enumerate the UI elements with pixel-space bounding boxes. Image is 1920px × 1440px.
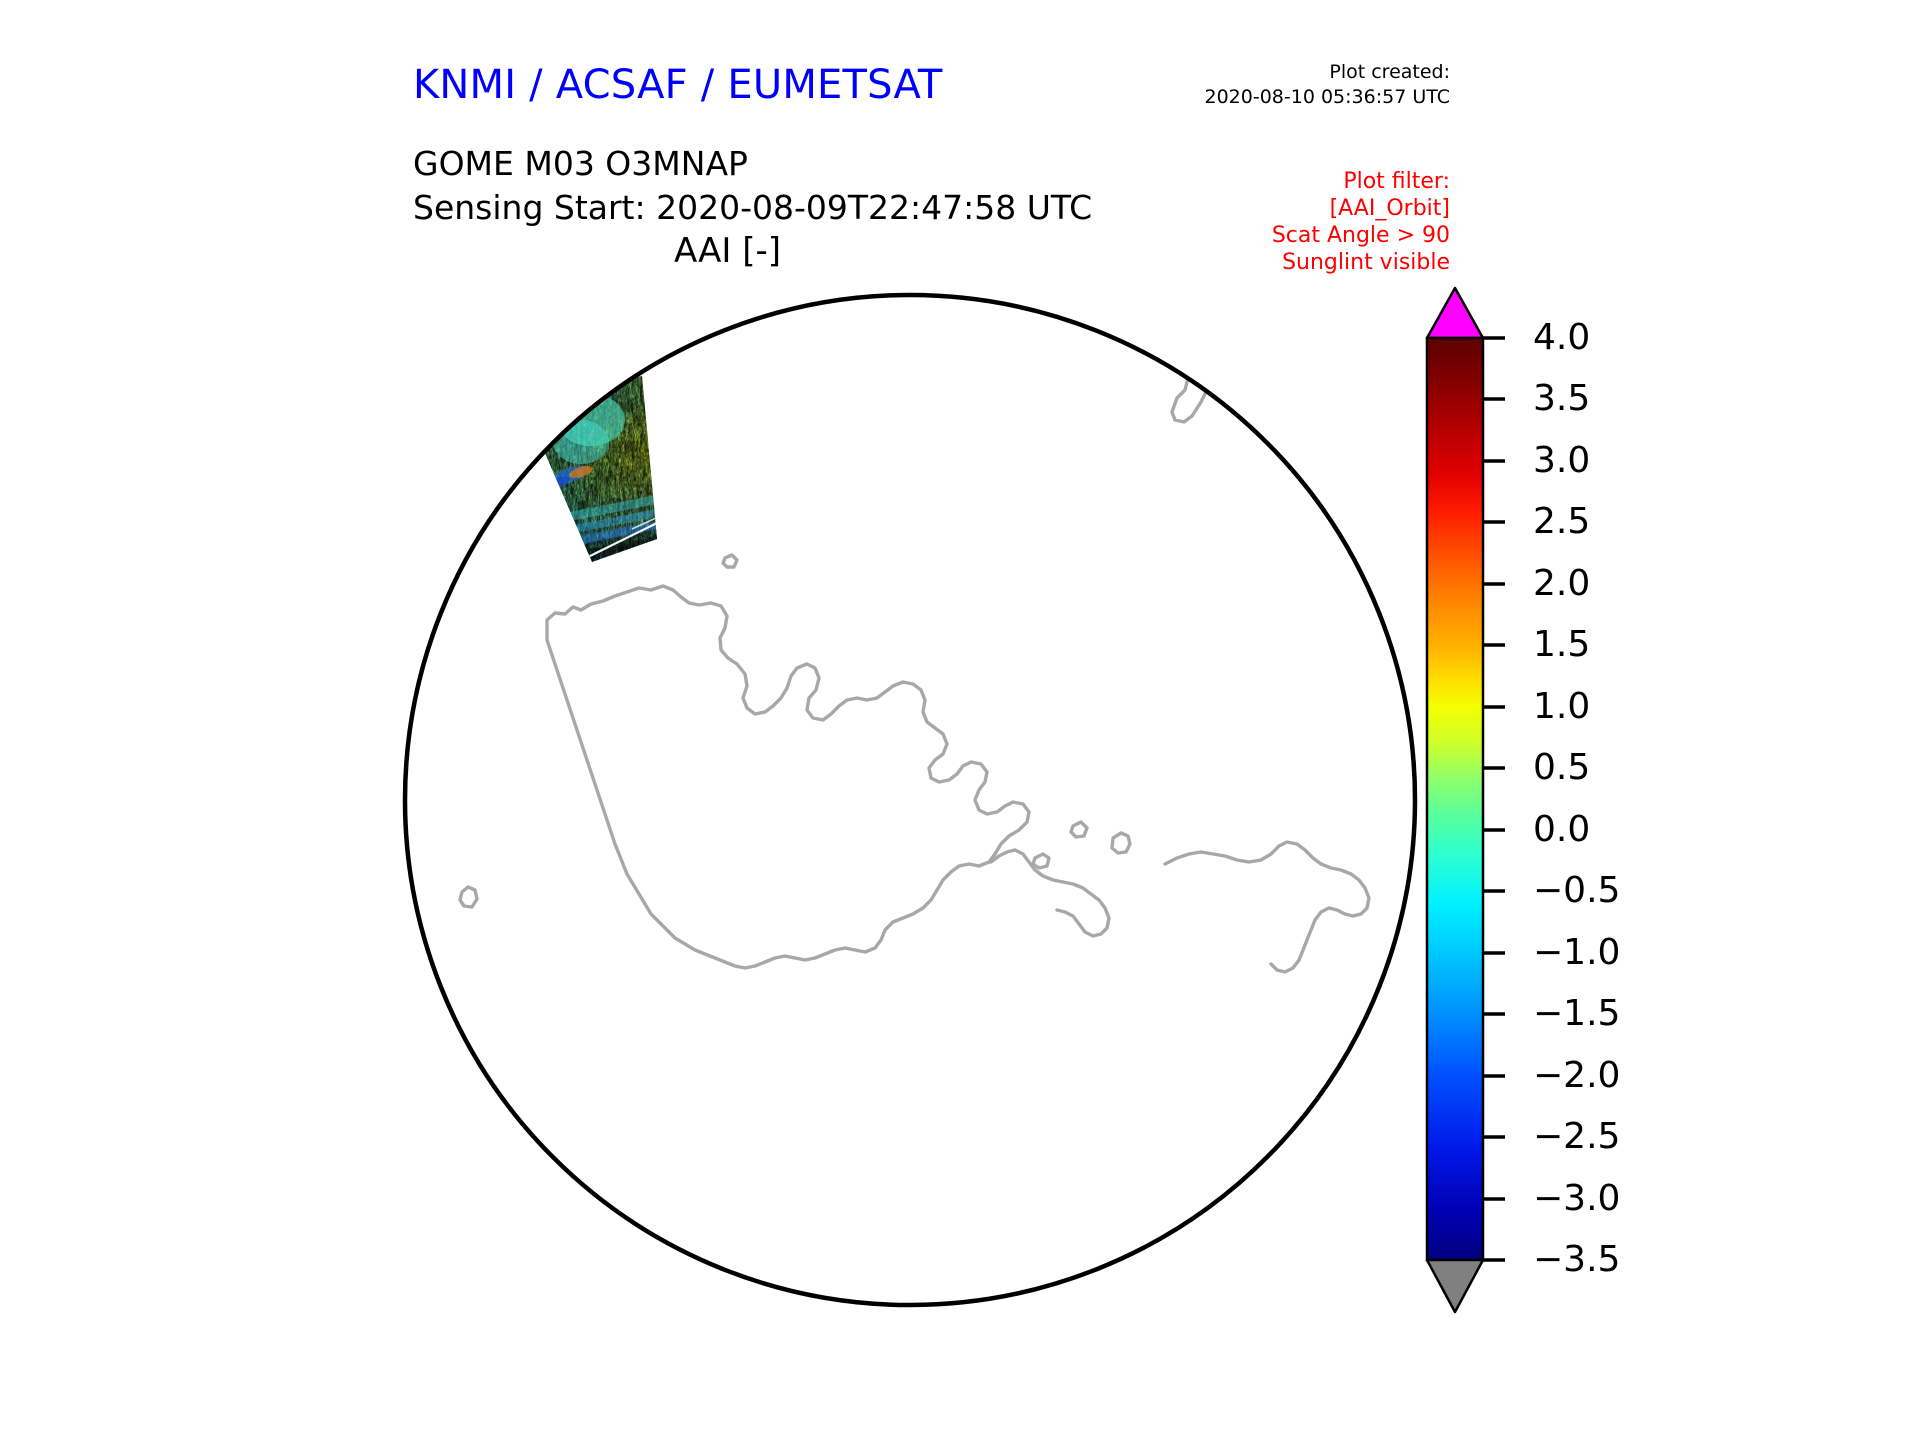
colorbar-tick-label: 1.5 [1533, 627, 1590, 663]
sensing-start-line: Sensing Start: 2020-08-09T22:47:58 UTC [413, 186, 1092, 230]
colorbar-tick-label: 2.0 [1533, 566, 1590, 602]
colorbar-tick-label: −2.0 [1533, 1058, 1620, 1094]
plot-filter-line-1: Plot filter: [1070, 168, 1450, 195]
plot-filter-block: Plot filter: [AAI_Orbit] Scat Angle > 90… [1070, 168, 1450, 276]
colorbar-tick-label: 4.0 [1533, 320, 1590, 356]
colorbar-tick-label: 0.5 [1533, 750, 1590, 786]
colorbar-tick-label: 1.0 [1533, 689, 1590, 725]
colorbar-ticks [1483, 338, 1505, 1260]
colorbar-tick-label: −3.5 [1533, 1242, 1620, 1278]
colorbar-gradient-bar [1427, 338, 1483, 1260]
colorbar: 4.03.53.02.52.01.51.00.50.0−0.5−1.0−1.5−… [1425, 280, 1865, 1320]
organisation-title: KNMI / ACSAF / EUMETSAT [413, 62, 943, 108]
colorbar-tick-label: −3.0 [1533, 1181, 1620, 1217]
colorbar-tick-labels: 4.03.53.02.52.01.51.00.50.0−0.5−1.0−1.5−… [1533, 280, 1783, 1320]
colorbar-tick-label: 0.0 [1533, 812, 1590, 848]
colorbar-tick-label: −2.5 [1533, 1119, 1620, 1155]
plot-filter-line-3: Scat Angle > 90 [1070, 222, 1450, 249]
colorbar-under-arrow [1427, 1260, 1483, 1312]
plot-created-block: Plot created: 2020-08-10 05:36:57 UTC [1000, 60, 1450, 110]
colorbar-tick-label: −1.5 [1533, 996, 1620, 1032]
instrument-block: GOME M03 O3MNAP Sensing Start: 2020-08-0… [413, 142, 1092, 230]
instrument-line: GOME M03 O3MNAP [413, 142, 1092, 186]
colorbar-tick-label: −1.0 [1533, 935, 1620, 971]
plot-filter-line-2: [AAI_Orbit] [1070, 195, 1450, 222]
plot-canvas: KNMI / ACSAF / EUMETSAT Plot created: 20… [0, 0, 1920, 1440]
colorbar-tick-label: 2.5 [1533, 504, 1590, 540]
colorbar-over-arrow [1427, 288, 1483, 338]
colorbar-tick-label: 3.5 [1533, 381, 1590, 417]
plot-created-value: 2020-08-10 05:36:57 UTC [1000, 85, 1450, 110]
plot-created-label: Plot created: [1000, 60, 1450, 85]
colorbar-tick-label: 3.0 [1533, 443, 1590, 479]
map-plot-area [395, 270, 1425, 1330]
colorbar-tick-label: −0.5 [1533, 873, 1620, 909]
coastline-australia-fragment [512, 318, 547, 340]
